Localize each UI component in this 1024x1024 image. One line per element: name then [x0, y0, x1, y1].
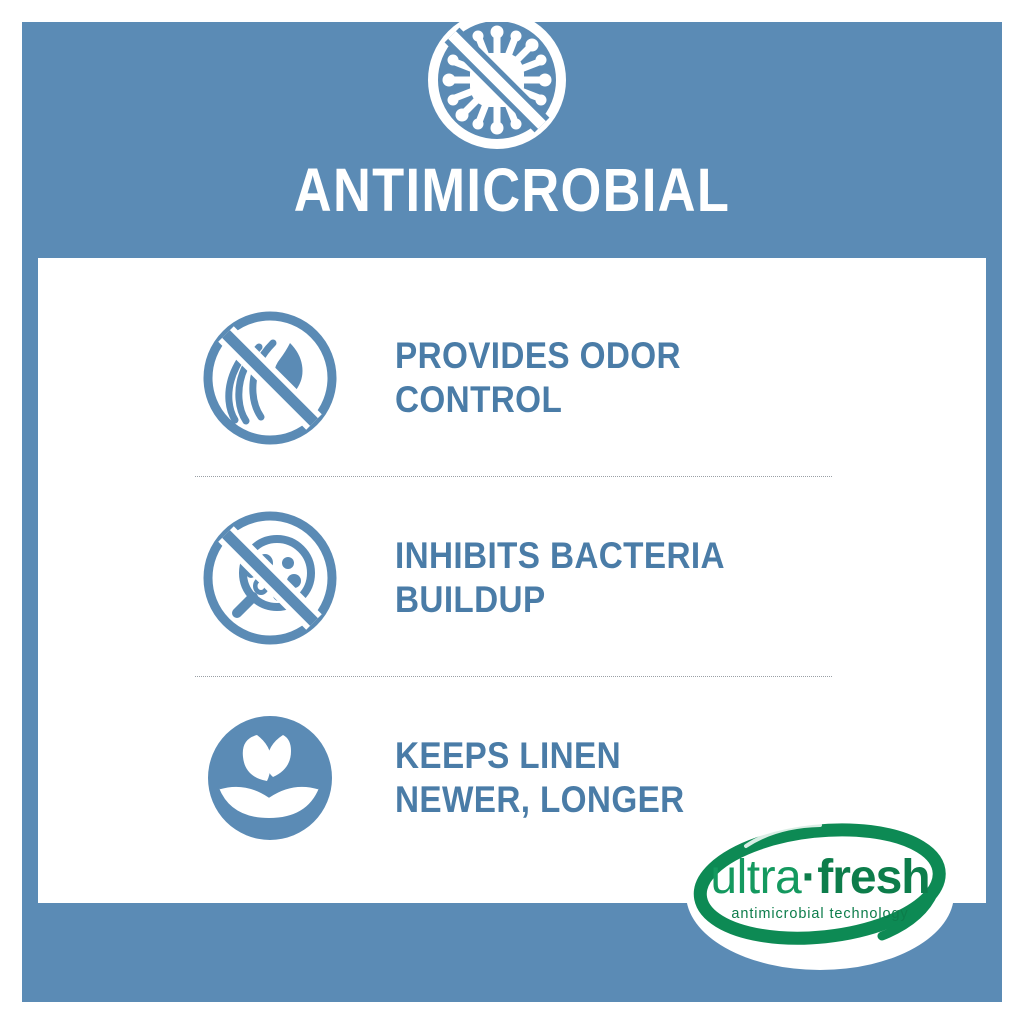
divider [195, 676, 832, 678]
logo-brand-separator: · [801, 851, 817, 904]
feature-row: INHIBITS BACTERIA BUILDUP [195, 495, 895, 660]
page-title: ANTIMICROBIAL [91, 160, 934, 221]
no-bacteria-icon [195, 503, 345, 653]
header: ANTIMICROBIAL [22, 0, 1002, 258]
feature-list: PROVIDES ODOR CONTROL [38, 258, 986, 903]
infographic-root: ANTIMICROBIAL [0, 0, 1024, 1024]
no-virus-icon [425, 8, 569, 152]
feature-label: KEEPS LINEN NEWER, LONGER [395, 734, 685, 821]
feature-label: INHIBITS BACTERIA BUILDUP [395, 534, 845, 621]
logo-wordmark: ultra·fresh [686, 854, 954, 902]
feature-label: PROVIDES ODOR CONTROL [395, 334, 845, 421]
divider [195, 476, 832, 478]
feature-row: PROVIDES ODOR CONTROL [195, 295, 895, 460]
logo-brand-ultra: ultra [710, 851, 801, 904]
ultra-fresh-logo: ultra·fresh antimicrobial technology [686, 818, 954, 970]
leaf-sprout-icon [195, 703, 345, 853]
content-card: PROVIDES ODOR CONTROL [38, 258, 986, 903]
logo-brand-fresh: fresh [817, 851, 929, 904]
no-odor-icon [195, 303, 345, 453]
logo-tagline: antimicrobial technology [686, 906, 954, 922]
